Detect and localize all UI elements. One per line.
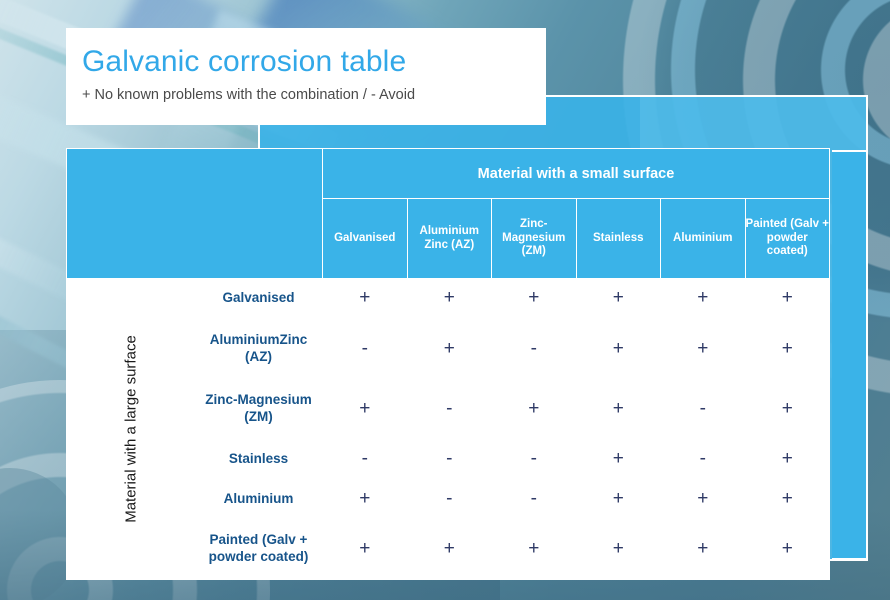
title-card: Galvanic corrosion table + No known prob…	[66, 28, 546, 125]
column-header-painted: Painted (Galv + powder coated)	[745, 199, 830, 279]
row-header-zinc-magnesium: Zinc-Magnesium (ZM)	[195, 379, 323, 439]
page-title: Galvanic corrosion table	[82, 46, 546, 78]
cell-r2-c2: +	[492, 379, 577, 439]
cell-r3-c2: -	[492, 439, 577, 479]
cell-r1-c3: +	[576, 318, 661, 378]
cell-r2-c5: +	[745, 379, 830, 439]
cell-r5-c1: +	[407, 519, 492, 579]
cell-r1-c4: +	[661, 318, 746, 378]
cell-r1-c1: +	[407, 318, 492, 378]
cell-r0-c5: +	[745, 279, 830, 319]
column-header-aluminium-zinc: Aluminium Zinc (AZ)	[407, 199, 492, 279]
table-row: Material with a large surface Galvanised…	[67, 279, 830, 319]
cell-r0-c2: +	[492, 279, 577, 319]
row-group-header: Material with a large surface	[122, 335, 139, 523]
cell-r4-c0: +	[323, 479, 408, 519]
cell-r2-c3: +	[576, 379, 661, 439]
cell-r1-c2: -	[492, 318, 577, 378]
cell-r3-c0: -	[323, 439, 408, 479]
cell-r5-c4: +	[661, 519, 746, 579]
cell-r3-c5: +	[745, 439, 830, 479]
cell-r2-c1: -	[407, 379, 492, 439]
cell-r4-c2: -	[492, 479, 577, 519]
cell-r1-c5: +	[745, 318, 830, 378]
cell-r0-c4: +	[661, 279, 746, 319]
cell-r4-c4: +	[661, 479, 746, 519]
cell-r3-c4: -	[661, 439, 746, 479]
slide-canvas: Galvanic corrosion table + No known prob…	[0, 0, 890, 600]
column-header-galvanised: Galvanised	[323, 199, 408, 279]
cell-r2-c0: +	[323, 379, 408, 439]
row-header-painted: Painted (Galv + powder coated)	[195, 519, 323, 579]
cell-r2-c4: -	[661, 379, 746, 439]
cell-r5-c5: +	[745, 519, 830, 579]
row-group-header-cell: Material with a large surface	[67, 279, 195, 580]
galvanic-corrosion-matrix: Material with a small surface Galvanised…	[66, 148, 830, 580]
cell-r1-c0: -	[323, 318, 408, 378]
cell-r5-c3: +	[576, 519, 661, 579]
row-header-aluminium: Aluminium	[195, 479, 323, 519]
cell-r4-c1: -	[407, 479, 492, 519]
cell-r4-c5: +	[745, 479, 830, 519]
cell-r0-c0: +	[323, 279, 408, 319]
cell-r5-c2: +	[492, 519, 577, 579]
page-subtitle-legend: + No known problems with the combination…	[82, 87, 546, 103]
column-header-zinc-magnesium: Zinc-Magnesium (ZM)	[492, 199, 577, 279]
table-corner-block	[67, 149, 323, 279]
column-header-stainless: Stainless	[576, 199, 661, 279]
cell-r0-c1: +	[407, 279, 492, 319]
cell-r4-c3: +	[576, 479, 661, 519]
table-group-header-row: Material with a small surface	[67, 149, 830, 199]
cell-r3-c1: -	[407, 439, 492, 479]
cell-r3-c3: +	[576, 439, 661, 479]
column-header-aluminium: Aluminium	[661, 199, 746, 279]
cell-r5-c0: +	[323, 519, 408, 579]
row-header-stainless: Stainless	[195, 439, 323, 479]
cell-r0-c3: +	[576, 279, 661, 319]
column-group-header: Material with a small surface	[323, 149, 830, 199]
table-card: Material with a small surface Galvanised…	[66, 148, 830, 580]
row-header-aluminium-zinc: AluminiumZinc (AZ)	[195, 318, 323, 378]
row-header-galvanised: Galvanised	[195, 279, 323, 319]
